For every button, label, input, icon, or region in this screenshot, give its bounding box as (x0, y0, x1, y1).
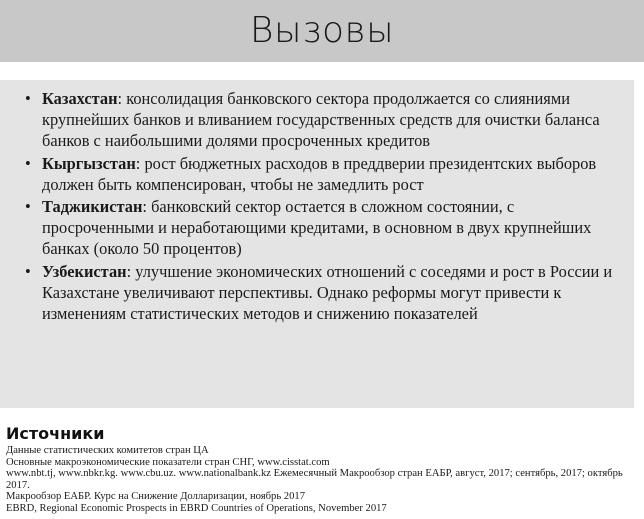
bullet-separator: : (118, 89, 127, 108)
list-item: •Таджикистан: банковский сектор остается… (18, 196, 616, 260)
slide-title-band: Вызовы (0, 0, 644, 62)
sources-heading: Источники (6, 424, 644, 443)
source-line: Макрообзор ЕАБР. Курс на Снижение Доллар… (6, 491, 644, 503)
list-item: •Казахстан: консолидация банковского сек… (18, 88, 616, 152)
source-line: Данные статистических комитетов стран ЦА (6, 445, 644, 457)
list-item: •Узбекистан: улучшение экономических отн… (18, 261, 616, 325)
list-item: •Кыргызстан: рост бюджетных расходов в п… (18, 153, 616, 195)
slide: Вызовы •Казахстан: консолидация банковск… (0, 0, 644, 519)
bullet-country-label: Узбекистан (42, 262, 127, 281)
bullet-text: консолидация банковского сектора продолж… (42, 89, 600, 150)
bullet-marker-icon: • (25, 88, 31, 109)
sources-section: Источники Данные статистических комитето… (6, 424, 644, 515)
bullet-separator: : (142, 197, 151, 216)
source-line: Основные макроэкономические показатели с… (6, 457, 644, 469)
bullet-marker-icon: • (25, 196, 31, 217)
bullet-country-label: Казахстан (42, 89, 118, 108)
page-title: Вызовы (250, 11, 394, 51)
source-line: EBRD, Regional Economic Prospects in EBR… (6, 503, 644, 515)
bullet-marker-icon: • (25, 153, 31, 174)
bullet-country-label: Кыргызстан (42, 154, 136, 173)
content-panel: •Казахстан: консолидация банковского сек… (0, 80, 634, 408)
bullet-separator: : (127, 262, 136, 281)
challenges-bullet-list: •Казахстан: консолидация банковского сек… (18, 88, 616, 324)
bullet-marker-icon: • (25, 261, 31, 282)
bullet-country-label: Таджикистан (42, 197, 142, 216)
source-line: www.nbt.tj, www.nbkr.kg. www.cbu.uz. www… (6, 468, 644, 491)
